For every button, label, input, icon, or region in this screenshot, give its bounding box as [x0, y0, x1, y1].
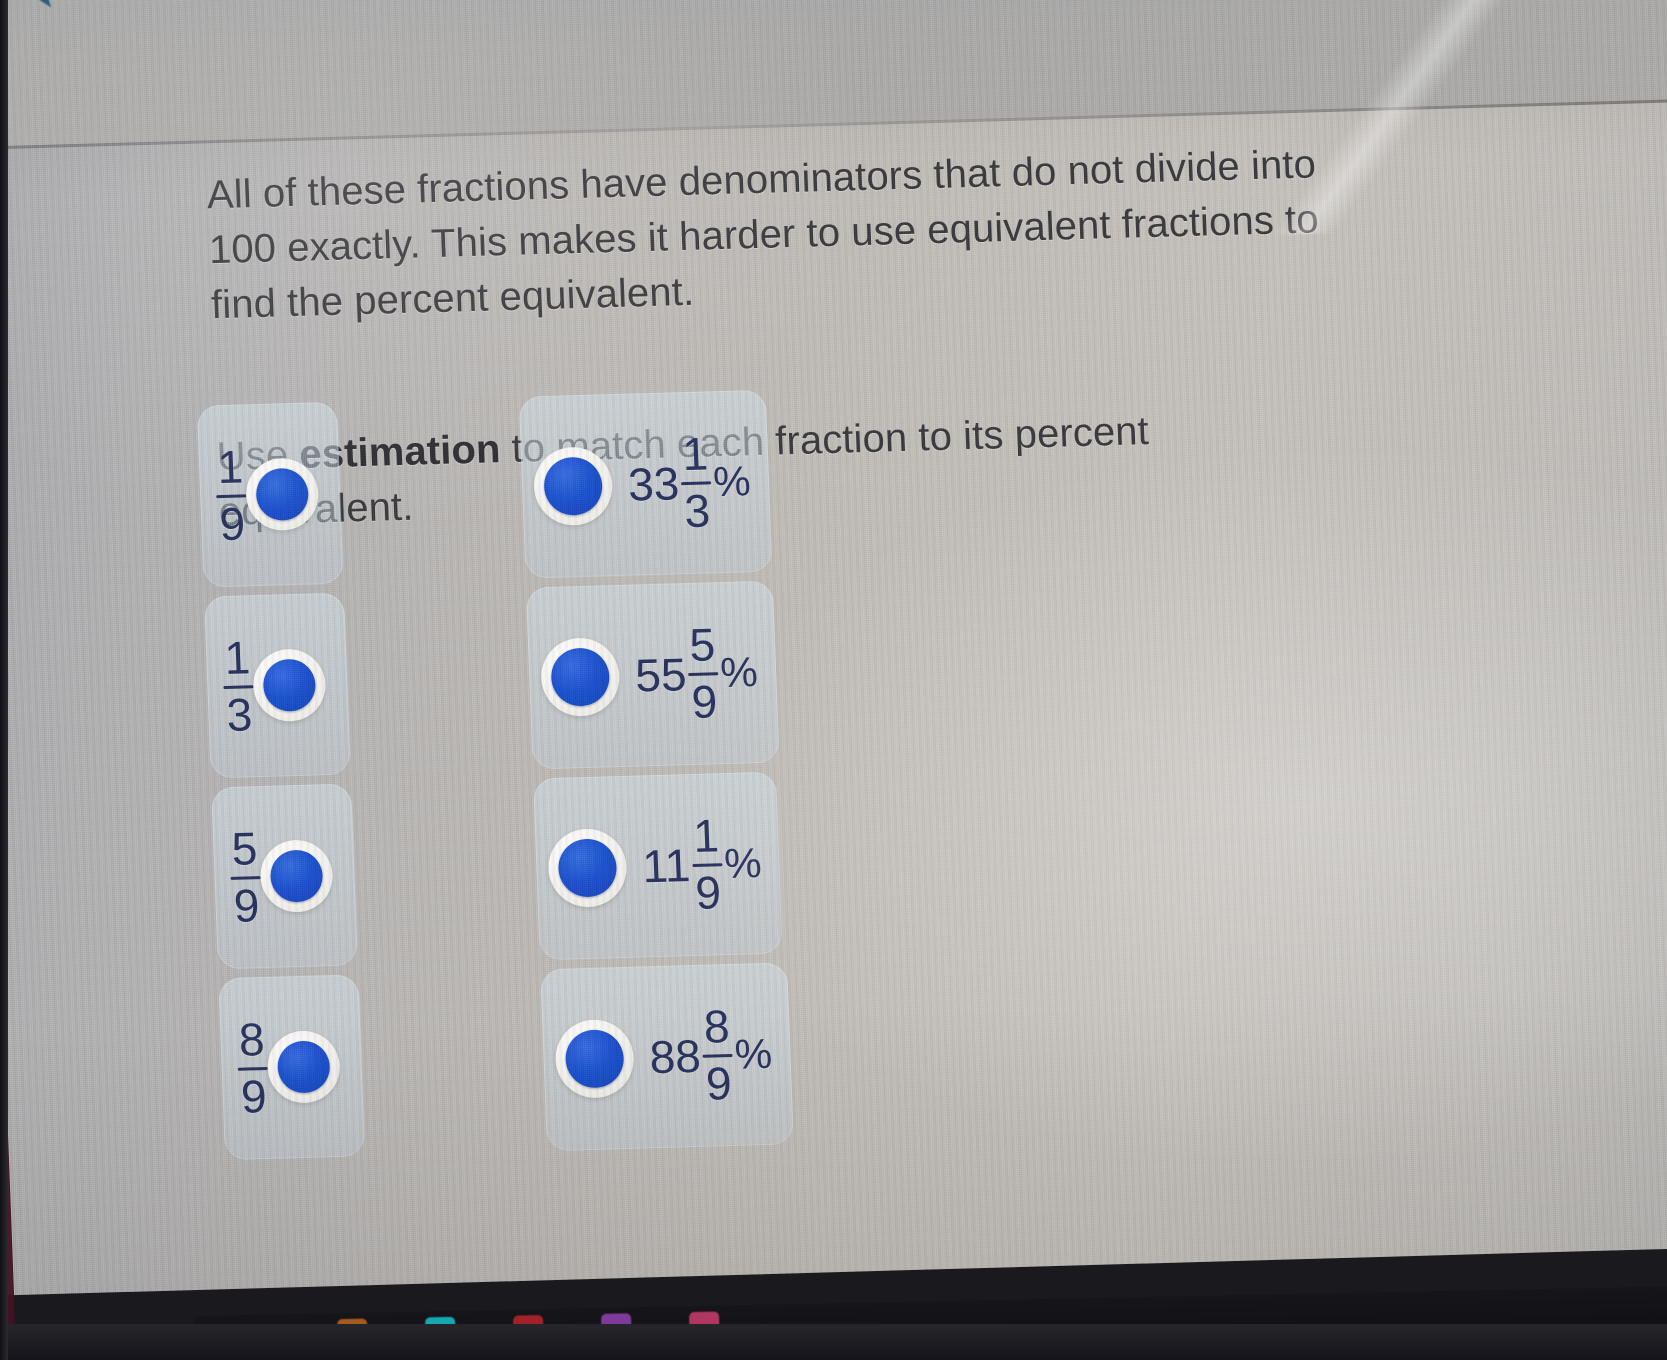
- percent-fraction: 5 9: [686, 621, 720, 726]
- percent-symbol: %: [734, 1029, 773, 1078]
- monitor-screen: All of these fractions have denominators…: [0, 0, 1667, 1296]
- percent-value: 55 5 9 %: [633, 620, 759, 727]
- percent-symbol: %: [712, 457, 751, 506]
- match-dot-right[interactable]: [540, 637, 621, 717]
- fraction-card[interactable]: 1 3: [204, 592, 351, 778]
- percent-fraction: 1 3: [679, 430, 713, 535]
- match-dot-inner: [565, 1029, 625, 1089]
- match-dot-inner: [270, 849, 324, 902]
- percent-whole: 11: [641, 838, 691, 893]
- match-dot-right[interactable]: [547, 827, 628, 907]
- percent-whole: 33: [627, 456, 680, 511]
- percent-value: 33 1 3 %: [626, 429, 752, 536]
- percent-fraction: 1 9: [690, 812, 724, 917]
- fraction-numerator: 1: [222, 634, 253, 682]
- percent-denominator: 9: [689, 678, 720, 726]
- percent-symbol: %: [719, 648, 758, 697]
- star-icon: [0, 0, 76, 21]
- row-gap: [355, 869, 537, 874]
- percent-denominator: 3: [682, 487, 713, 535]
- match-dot-inner: [255, 467, 309, 520]
- match-dot-left[interactable]: [252, 648, 327, 722]
- fraction-denominator: 9: [217, 500, 248, 548]
- fraction-denominator: 9: [231, 882, 262, 930]
- fraction-value: 5 9: [229, 825, 263, 930]
- percent-numerator: 8: [701, 1003, 732, 1051]
- fraction-denominator: 3: [224, 691, 255, 739]
- fraction-numerator: 8: [236, 1016, 267, 1064]
- match-dot-left[interactable]: [245, 457, 320, 531]
- match-dot-inner: [557, 838, 617, 898]
- fraction-card[interactable]: 1 9: [197, 401, 344, 587]
- percent-card[interactable]: 88 8 9 %: [540, 962, 793, 1151]
- matching-row: 5 9 11 1 9: [211, 755, 1218, 974]
- match-dot-right[interactable]: [533, 446, 614, 526]
- percent-denominator: 9: [693, 869, 724, 917]
- row-gap: [347, 678, 529, 683]
- match-dot-inner: [262, 658, 316, 711]
- percent-value: 88 8 9 %: [648, 1001, 774, 1108]
- percent-numerator: 5: [687, 621, 718, 669]
- percent-card[interactable]: 11 1 9 %: [533, 771, 783, 960]
- percent-denominator: 9: [703, 1059, 734, 1107]
- matching-row: 1 9 33 1 3: [197, 373, 1204, 592]
- row-gap: [362, 1060, 544, 1065]
- match-dot-inner: [277, 1040, 331, 1093]
- match-dot-left[interactable]: [266, 1029, 341, 1103]
- match-dot-inner: [550, 647, 610, 707]
- percent-whole: 55: [634, 647, 687, 702]
- match-dot-inner: [543, 456, 603, 516]
- percent-value: 11 1 9 %: [640, 811, 763, 918]
- percent-symbol: %: [723, 839, 762, 888]
- fraction-numerator: 1: [214, 443, 245, 491]
- match-dot-right[interactable]: [554, 1018, 635, 1098]
- fraction-numerator: 5: [229, 825, 260, 873]
- fraction-value: 1 9: [214, 443, 248, 548]
- fraction-card[interactable]: 8 9: [218, 974, 365, 1160]
- percent-card[interactable]: 55 5 9 %: [526, 580, 779, 769]
- matching-row: 1 3 55 5 9: [204, 564, 1211, 783]
- matching-activity: 1 9 33 1 3: [197, 373, 1225, 1164]
- percent-card[interactable]: 33 1 3 %: [519, 389, 772, 578]
- percent-numerator: 1: [690, 812, 721, 860]
- fraction-value: 8 9: [236, 1016, 270, 1121]
- matching-row: 8 9 88 8 9: [218, 945, 1225, 1164]
- percent-numerator: 1: [679, 430, 710, 478]
- lesson-paragraph-1: All of these fractions have denominators…: [206, 137, 1332, 334]
- photo-of-screen: All of these fractions have denominators…: [0, 0, 1667, 1360]
- row-gap: [340, 487, 522, 492]
- monitor-bezel-bottom: [0, 1324, 1667, 1360]
- match-dot-left[interactable]: [259, 839, 334, 913]
- fraction-card[interactable]: 5 9: [211, 783, 358, 969]
- fraction-value: 1 3: [221, 634, 255, 739]
- percent-whole: 88: [649, 1028, 702, 1083]
- percent-fraction: 8 9: [701, 1003, 735, 1108]
- monitor-bezel-left: [0, 0, 8, 1360]
- fraction-denominator: 9: [238, 1072, 269, 1120]
